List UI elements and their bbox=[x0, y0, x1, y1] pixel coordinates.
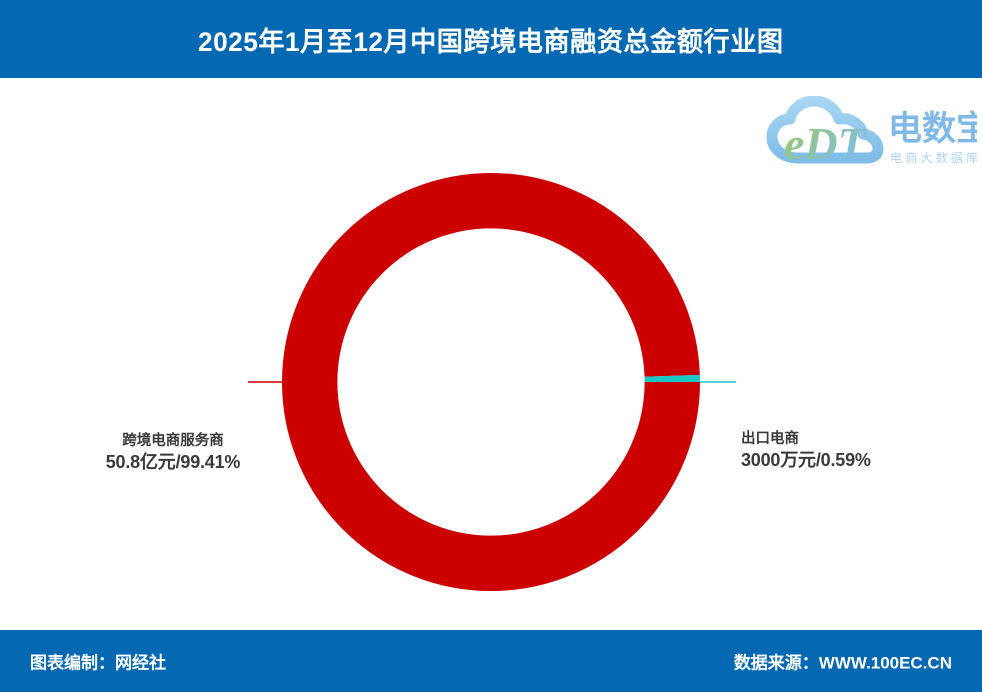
page-title: 2025年1月至12月中国跨境电商融资总金额行业图 bbox=[198, 20, 784, 59]
footer-credit: 图表编制：网经社 bbox=[30, 649, 166, 674]
donut-slices bbox=[310, 201, 673, 564]
donut-slice-0 bbox=[310, 201, 673, 564]
header-bar: 2025年1月至12月中国跨境电商融资总金额行业图 bbox=[0, 0, 982, 78]
chart-area: 跨境电商服务商 50.8亿元/99.41% 出口电商 3000万元/0.59% bbox=[0, 78, 982, 630]
donut-chart bbox=[0, 78, 982, 630]
slice-label-right: 出口电商 3000万元/0.59% bbox=[741, 430, 871, 472]
slice-label-right-name: 出口电商 bbox=[741, 430, 871, 449]
slice-label-left-name: 跨境电商服务商 bbox=[98, 432, 248, 451]
slice-label-right-value: 3000万元/0.59% bbox=[741, 449, 871, 472]
chart-page: 2025年1月至12月中国跨境电商融资总金额行业图 eDT bbox=[0, 0, 982, 692]
footer-source: 数据来源：WWW.100EC.CN bbox=[734, 649, 952, 674]
footer-bar: 图表编制：网经社 数据来源：WWW.100EC.CN bbox=[0, 630, 982, 692]
slice-label-left-value: 50.8亿元/99.41% bbox=[98, 451, 248, 474]
slice-label-left: 跨境电商服务商 50.8亿元/99.41% bbox=[98, 432, 248, 474]
